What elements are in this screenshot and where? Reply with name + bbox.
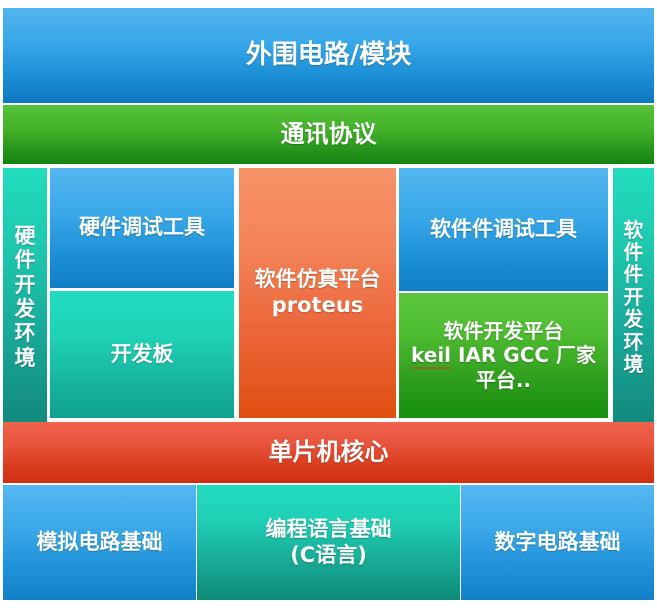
hardware-env-char-3: 开 [15,273,36,297]
software-env-char-6: 环 [624,331,644,353]
hardware-env-char-6: 境 [15,346,36,370]
block-programming-language-basics: 编程语言基础 (C语言) [197,485,460,600]
software-env-char-1: 软 [624,219,644,241]
c-language-subtitle: (C语言) [290,543,367,569]
block-software-development-platform: 软件开发平台 keil IAR GCC 厂家 平台.. [399,293,608,418]
software-platform-toolchain-rest: IAR GCC 厂家 [451,343,596,367]
hardware-env-char-2: 件 [15,248,36,272]
diagram-canvas: 外围电路/模块 通讯协议 硬 件 开 发 环 境 硬件调试工具 开发板 软件仿真… [0,0,657,610]
hardware-env-char-5: 环 [15,321,36,345]
software-platform-ellipsis: 平台.. [476,368,531,392]
block-simulation-platform-proteus: 软件仿真平台 proteus [239,168,396,418]
hardware-env-char-4: 发 [15,297,36,321]
block-communication-protocol: 通讯协议 [3,105,654,164]
block-mcu-core: 单片机核心 [3,422,654,483]
software-env-char-7: 境 [624,353,644,375]
software-platform-toolchain: keil IAR GCC 厂家 [411,343,596,367]
block-analog-circuit-basics: 模拟电路基础 [3,485,196,600]
c-language-title: 编程语言基础 [266,517,392,543]
block-digital-circuit-basics: 数字电路基础 [461,485,654,600]
software-env-char-3: 件 [624,263,644,285]
block-peripheral-circuits: 外围电路/模块 [3,8,654,103]
block-development-board: 开发板 [50,291,234,418]
software-env-char-4: 开 [624,286,644,308]
software-env-char-5: 发 [624,308,644,330]
sidebar-label-software-dev-environment: 软 件 件 开 发 环 境 [613,168,654,426]
block-software-debug-tools: 软件件调试工具 [399,168,608,291]
block-hardware-debug-tools: 硬件调试工具 [50,168,234,288]
keil-misspelled-word: keil [411,343,451,369]
software-platform-title: 软件开发平台 [444,319,564,343]
sidebar-label-hardware-dev-environment: 硬 件 开 发 环 境 [3,168,47,426]
software-env-char-2: 件 [624,241,644,263]
hardware-env-char-1: 硬 [15,224,36,248]
